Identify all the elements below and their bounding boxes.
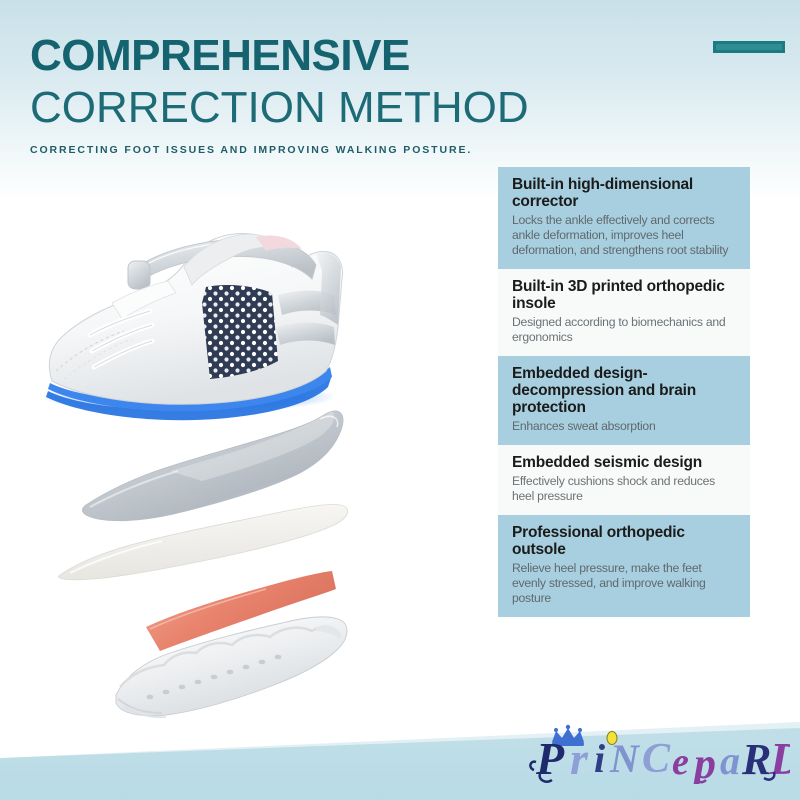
decorative-accent-rectangle	[713, 41, 785, 53]
feature-title: Built-in 3D printed orthopedic insole	[512, 278, 736, 312]
feature-item-outsole: Professional orthopedic outsole Relieve …	[498, 515, 750, 617]
shoe-illustration	[40, 234, 343, 421]
feature-body: Relieve heel pressure, make the feet eve…	[512, 561, 736, 606]
header: COMPREHENSIVE CORRECTION METHOD CORRECTI…	[30, 30, 630, 156]
page-title-line1: COMPREHENSIVE	[30, 30, 630, 82]
feature-item-corrector: Built-in high-dimensional corrector Lock…	[498, 167, 750, 269]
feature-list: Built-in high-dimensional corrector Lock…	[498, 167, 750, 617]
feature-body: Enhances sweat absorption	[512, 419, 736, 434]
page-subtitle: CORRECTING FOOT ISSUES AND IMPROVING WAL…	[30, 144, 630, 156]
logo-letter-e: e	[672, 741, 689, 783]
feature-title: Embedded seismic design	[512, 454, 736, 471]
feature-body: Locks the ankle effectively and corrects…	[512, 213, 736, 258]
feature-body: Effectively cushions shock and reduces h…	[512, 474, 736, 504]
feature-body: Designed according to biomechanics and e…	[512, 315, 736, 345]
page-title-line2: CORRECTION METHOD	[30, 82, 630, 134]
logo-letter-a: a	[720, 738, 740, 783]
logo-letter-C: C	[642, 736, 671, 782]
logo-letter-r: r	[570, 733, 589, 784]
feature-item-insole: Built-in 3D printed orthopedic insole De…	[498, 269, 750, 356]
feature-title: Built-in high-dimensional corrector	[512, 176, 736, 210]
arch-support-insole-illustration	[82, 411, 343, 521]
product-exploded-view	[20, 175, 440, 720]
feature-item-decompression: Embedded design-decompression and brain …	[498, 356, 750, 445]
logo-letter-D: D	[769, 733, 790, 784]
logo-letter-i: i	[594, 736, 605, 781]
logo-letter-N: N	[609, 736, 641, 781]
feature-title: Professional orthopedic outsole	[512, 524, 736, 558]
feature-item-seismic: Embedded seismic design Effectively cush…	[498, 445, 750, 515]
logo-letter-p: p	[690, 739, 716, 784]
logo-letter-R: R	[741, 735, 771, 784]
feature-title: Embedded design-decompression and brain …	[512, 365, 736, 416]
brand-logo: P r i N C e p a R D	[528, 722, 790, 784]
